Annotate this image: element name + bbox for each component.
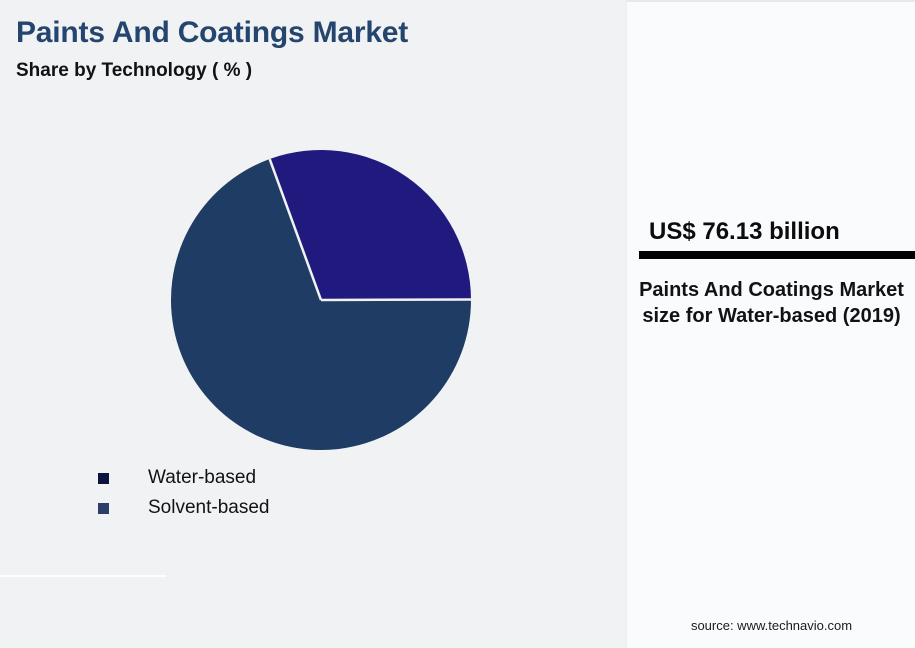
- kpi-panel: US$ 76.13 billion Paints And Coatings Ma…: [626, 0, 915, 648]
- legend-swatch-icon: [98, 473, 109, 484]
- chart-infographic: Paints And Coatings Market Share by Tech…: [0, 0, 915, 648]
- page-title: Paints And Coatings Market: [16, 16, 408, 50]
- kpi-caption: Paints And Coatings Market size for Wate…: [637, 277, 906, 330]
- divider-rule: [0, 575, 166, 577]
- source-note: source: www.technavio.com: [627, 618, 915, 633]
- pie-divider-right: [321, 299, 471, 300]
- legend-item-label: Water-based: [148, 467, 256, 489]
- kpi-underline-bar: [639, 251, 915, 259]
- legend-item-water-based[interactable]: Water-based: [98, 463, 269, 493]
- page-subtitle: Share by Technology ( % ): [16, 60, 252, 82]
- legend-item-label: Solvent-based: [148, 497, 269, 519]
- legend: Water-based Solvent-based: [98, 463, 269, 523]
- legend-swatch-icon: [98, 503, 109, 514]
- pie-chart-svg: [170, 149, 472, 451]
- pie-chart: [170, 149, 472, 451]
- chart-panel: Paints And Coatings Market Share by Tech…: [0, 0, 626, 648]
- kpi-value: US$ 76.13 billion: [649, 218, 915, 246]
- legend-item-solvent-based[interactable]: Solvent-based: [98, 493, 269, 523]
